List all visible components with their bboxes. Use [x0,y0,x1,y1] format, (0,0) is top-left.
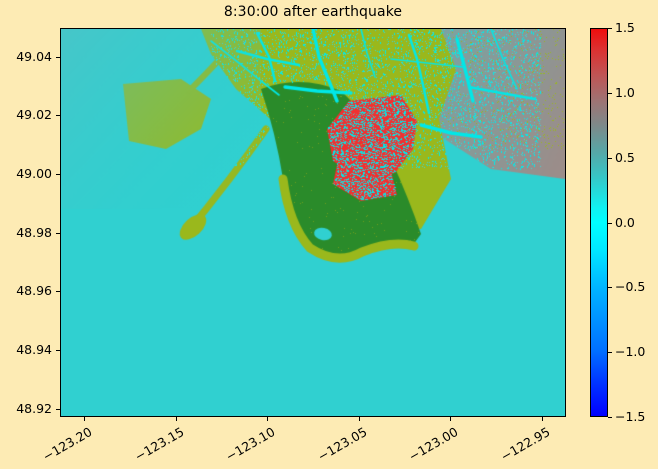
y-axis-tick-label: 48.92 [2,401,52,416]
x-axis-tick-mark [84,417,85,421]
x-axis-tick-label: −123.15 [131,424,186,464]
x-axis-tick-mark [267,417,268,421]
colorbar-tick-label: 1.0 [615,85,635,100]
colorbar-tick-label: −0.5 [615,279,645,294]
y-axis-tick-mark [56,57,60,58]
y-axis-tick-label: 49.04 [2,49,52,64]
y-axis-tick-mark [56,409,60,410]
heatmap-image [61,29,565,416]
y-axis-tick-mark [56,350,60,351]
y-axis-tick-label: 48.96 [2,283,52,298]
colorbar-tick-mark [608,223,612,224]
figure-canvas: 8:30:00 after earthquake 48.9248.9448.96… [0,0,658,469]
x-axis-tick-mark [450,417,451,421]
y-axis-tick-label: 49.02 [2,107,52,122]
colorbar-tick-mark [608,28,612,29]
colorbar-tick-mark [608,158,612,159]
colorbar-tick-label: 0.5 [615,150,635,165]
y-axis-tick-label: 48.94 [2,342,52,357]
colorbar-tick-mark [608,352,612,353]
y-axis-tick-mark [56,174,60,175]
y-axis-tick-mark [56,233,60,234]
colorbar-tick-mark [608,287,612,288]
x-axis-tick-label: −123.00 [406,424,461,464]
y-axis-tick-labels: 48.9248.9448.9648.9849.0049.0249.04 [0,0,52,469]
colorbar-tick-label: 1.5 [615,20,635,35]
x-axis-tick-mark [542,417,543,421]
colorbar-tick-mark [608,93,612,94]
colorbar-tick-mark [608,417,612,418]
x-axis-tick-label: −122.95 [497,424,552,464]
chart-title: 8:30:00 after earthquake [60,4,566,20]
colorbar-tick-label: 0.0 [615,215,635,230]
y-axis-tick-label: 48.98 [2,225,52,240]
x-axis-tick-label: −123.10 [223,424,278,464]
y-axis-tick-mark [56,115,60,116]
x-axis-tick-mark [359,417,360,421]
y-axis-tick-mark [56,291,60,292]
map-axes[interactable] [60,28,566,417]
x-axis-tick-label: −123.05 [314,424,369,464]
colorbar[interactable] [590,28,608,417]
x-axis-tick-mark [176,417,177,421]
colorbar-tick-label: −1.0 [615,344,645,359]
colorbar-tick-label: −1.5 [615,409,645,424]
y-axis-tick-label: 49.00 [2,166,52,181]
